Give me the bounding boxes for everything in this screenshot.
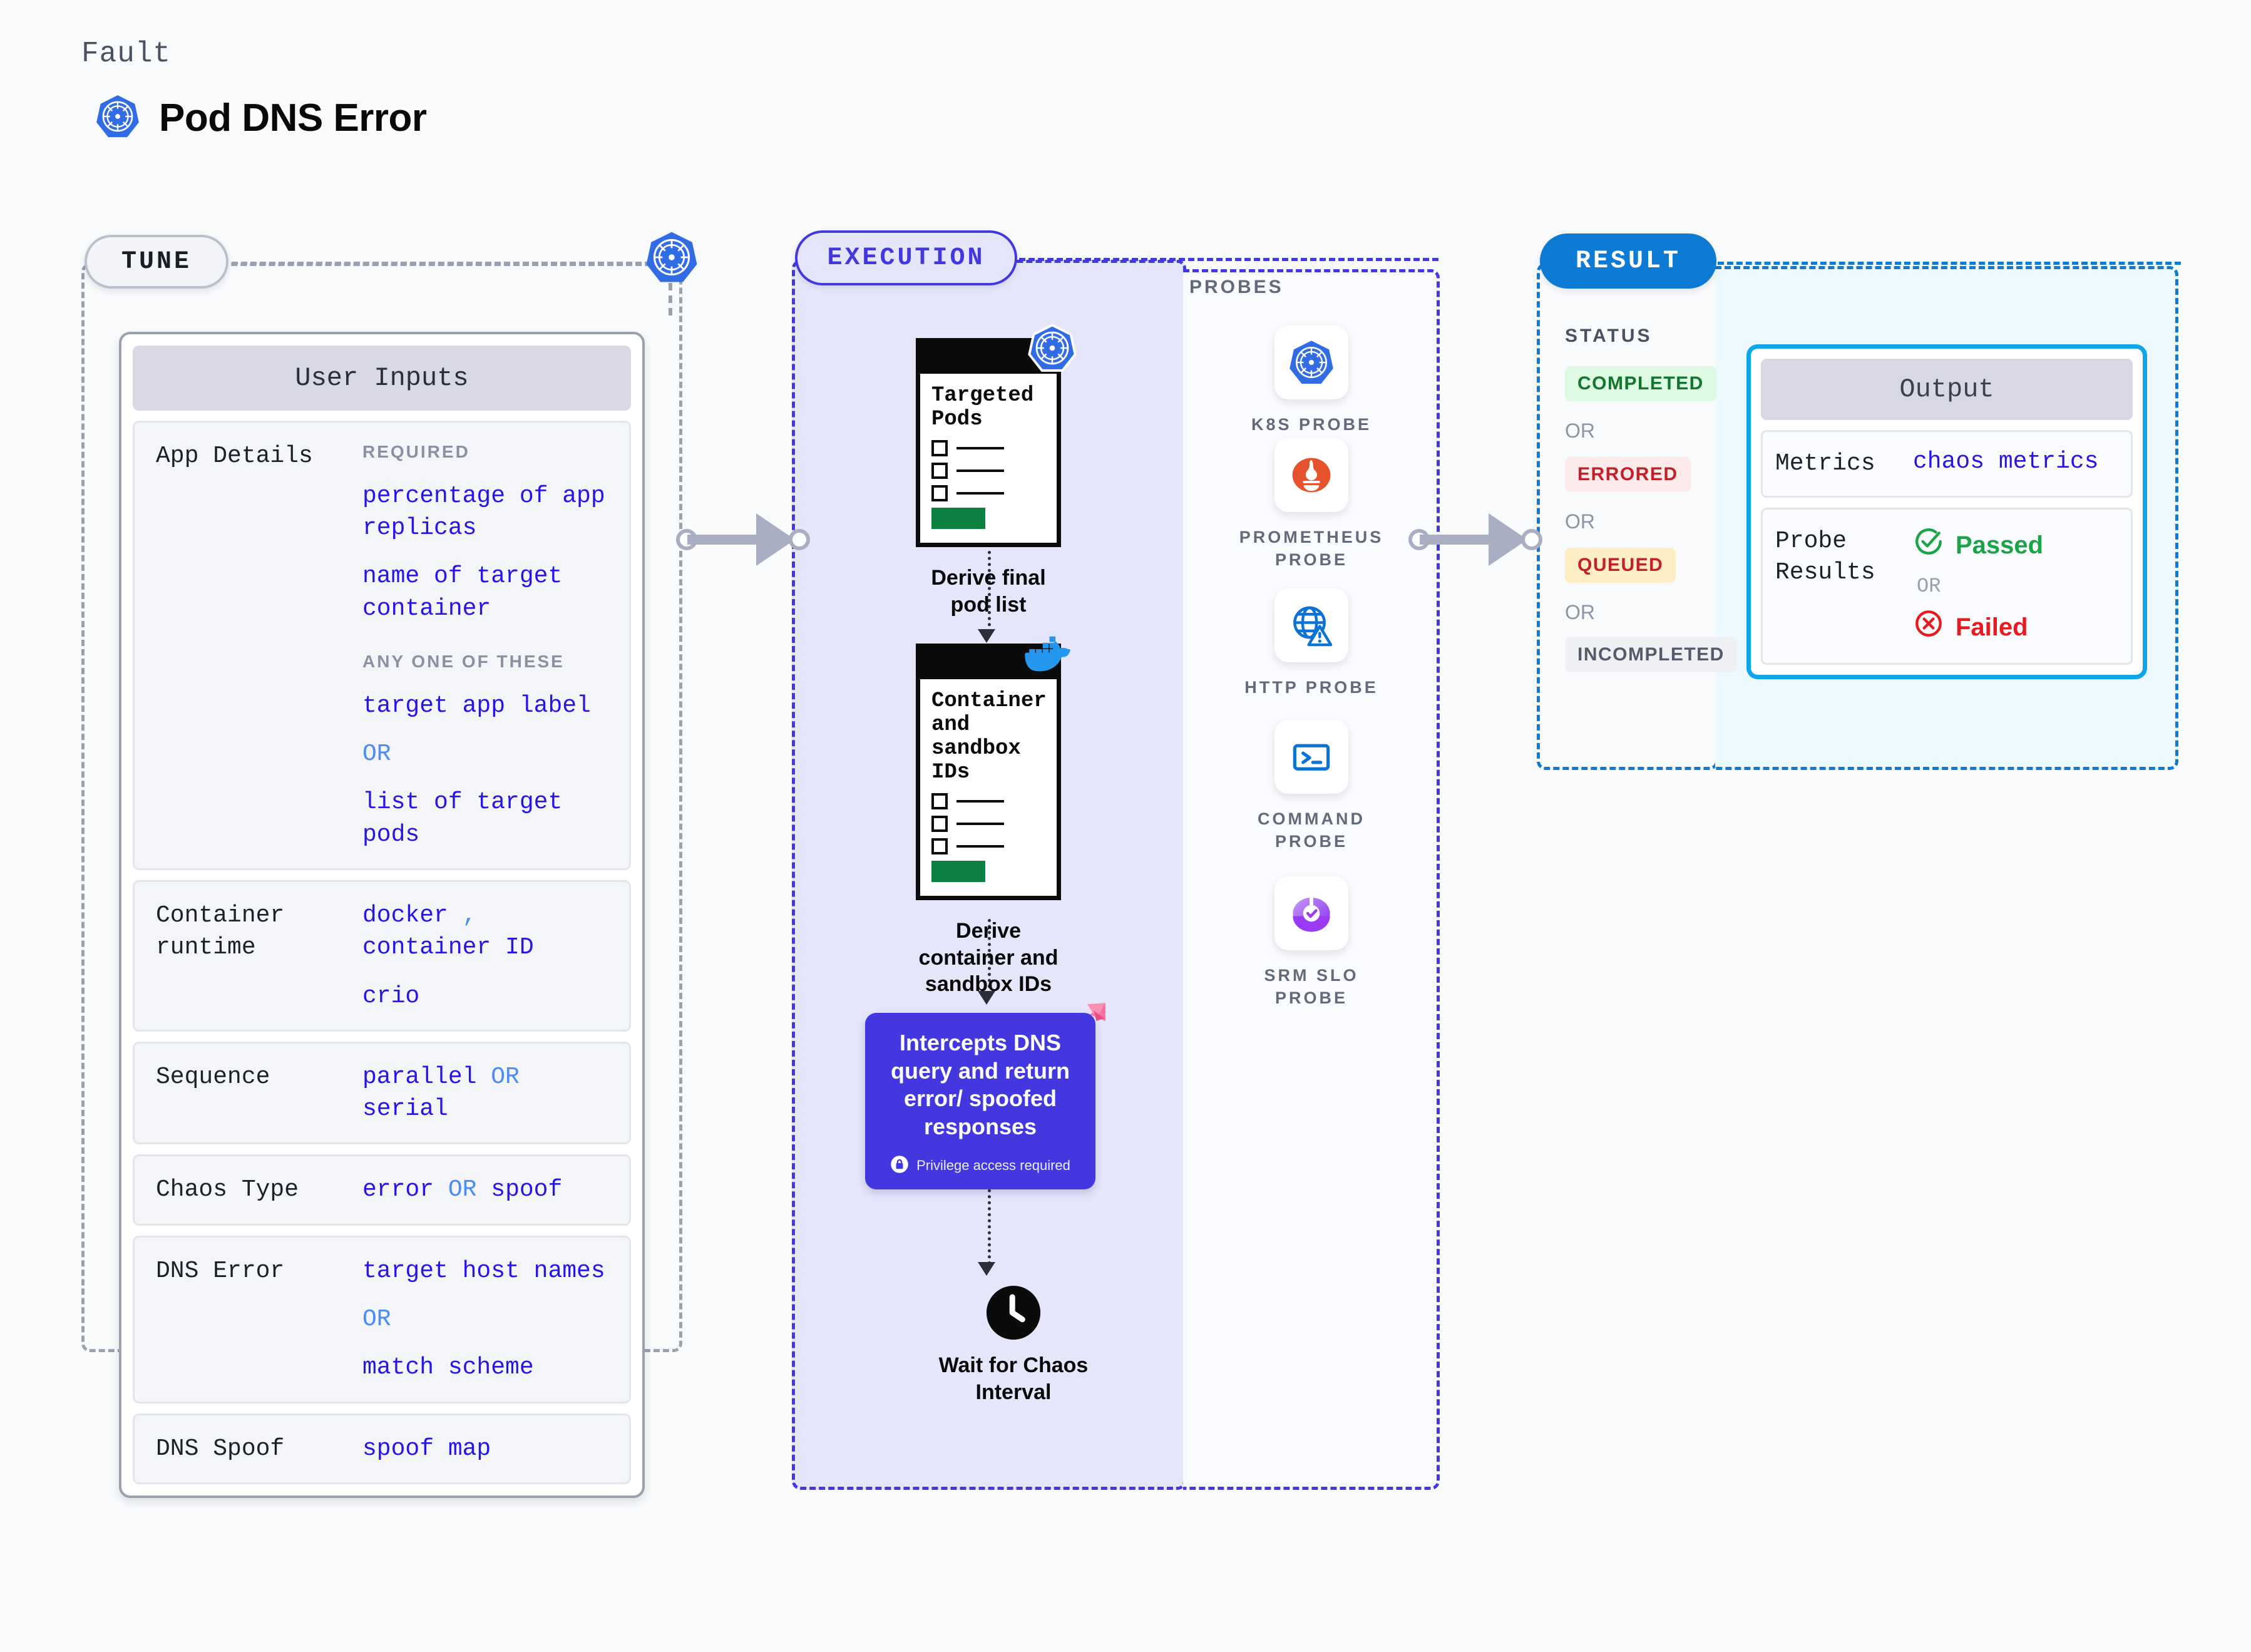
- probe-result-passed: Passed: [1913, 526, 2118, 565]
- tune-pill[interactable]: TUNE: [85, 235, 228, 289]
- failed-label: Failed: [1956, 613, 2028, 642]
- connector-execution-to-result: [1408, 513, 1596, 576]
- status-badge-completed: COMPLETED: [1565, 366, 1716, 401]
- container-sandbox-title: Container and sandbox IDs: [931, 689, 1045, 784]
- privilege-note: Privilege access required: [916, 1157, 1070, 1174]
- or-separator: OR: [448, 1176, 477, 1203]
- or-separator: OR: [362, 738, 614, 770]
- targeted-pods-title: Targeted Pods: [931, 384, 1045, 431]
- step-caption: Wait for Chaos Interval: [935, 1352, 1092, 1405]
- globe-warning-icon: [1274, 588, 1348, 662]
- kubernetes-icon: [1028, 324, 1077, 372]
- metrics-value: chaos metrics: [1913, 448, 2118, 480]
- probe-k8s[interactable]: K8S PROBE: [1230, 326, 1393, 436]
- output-row-probe-results[interactable]: Probe Results Passed OR: [1761, 508, 2133, 665]
- execution-step-container-ids: Container and sandbox IDs Derive contain…: [916, 644, 1061, 998]
- value-match-scheme: match scheme: [362, 1352, 614, 1383]
- check-circle-icon: [1913, 526, 1944, 565]
- value-target-app-label: target app label: [362, 690, 614, 722]
- value-parallel: parallel: [362, 1064, 476, 1090]
- or-separator: OR: [362, 1303, 614, 1335]
- fault-kicker: Fault: [81, 38, 427, 70]
- row-key: App Details: [150, 440, 362, 851]
- execution-pill[interactable]: EXECUTION: [795, 230, 1017, 285]
- value-spoof: spoof: [491, 1176, 562, 1203]
- user-inputs-title: User Inputs: [133, 346, 631, 411]
- value-target-container: name of target container: [362, 560, 614, 625]
- kubernetes-icon: [1274, 326, 1348, 399]
- probes-label: PROBES: [1189, 277, 1284, 298]
- user-input-row-app-details[interactable]: App Details REQUIRED percentage of app r…: [133, 421, 631, 870]
- probe-prometheus[interactable]: PROMETHEUS PROBE: [1230, 438, 1393, 572]
- result-connector-line: [1718, 262, 2181, 265]
- or-separator: OR: [491, 1064, 520, 1090]
- chaos-action-box: Intercepts DNS query and return error/ s…: [865, 1013, 1095, 1189]
- row-key: DNS Error: [150, 1255, 362, 1384]
- kubernetes-icon: [645, 230, 699, 284]
- row-key: Metrics: [1775, 448, 1913, 480]
- status-badge-errored: ERRORED: [1565, 457, 1691, 492]
- output-row-metrics[interactable]: Metrics chaos metrics: [1761, 430, 2133, 498]
- probe-label: PROMETHEUS PROBE: [1230, 526, 1393, 572]
- output-card: Output Metrics chaos metrics Probe Resul…: [1746, 344, 2147, 679]
- probe-label: K8S PROBE: [1251, 413, 1372, 436]
- container-sandbox-card: Container and sandbox IDs: [916, 644, 1061, 900]
- user-input-row-sequence[interactable]: Sequence parallel OR serial: [133, 1042, 631, 1145]
- terminal-icon: [1274, 720, 1348, 794]
- row-key: DNS Spoof: [150, 1433, 362, 1465]
- page-header: Fault Pod DNS Error: [81, 38, 427, 142]
- page-title: Pod DNS Error: [159, 96, 427, 140]
- probe-label: SRM SLO PROBE: [1230, 964, 1393, 1010]
- status-badge-incompleted: INCOMPLETED: [1565, 637, 1737, 672]
- probe-http[interactable]: HTTP PROBE: [1230, 588, 1393, 699]
- user-input-row-chaos-type[interactable]: Chaos Type error OR spoof: [133, 1154, 631, 1225]
- value-container-id: container ID: [362, 934, 534, 961]
- row-key: Sequence: [150, 1061, 362, 1126]
- required-label: REQUIRED: [362, 440, 614, 464]
- anyone-label: ANY ONE OF THESE: [362, 650, 614, 674]
- progress-bar: [931, 861, 985, 882]
- execution-step-targeted-pods: Targeted Pods: [916, 338, 1061, 618]
- probe-command[interactable]: COMMAND PROBE: [1230, 720, 1393, 853]
- user-inputs-card: User Inputs App Details REQUIRED percent…: [119, 332, 645, 1498]
- status-or: OR: [1565, 419, 1595, 443]
- row-key: Container runtime: [150, 900, 362, 1012]
- srm-slo-icon: [1274, 876, 1348, 950]
- result-pill[interactable]: RESULT: [1540, 233, 1716, 289]
- execution-connector-line: [1019, 258, 1438, 261]
- value-percentage-replicas: percentage of app replicas: [362, 480, 614, 545]
- k8s-badge-stem: [669, 283, 672, 316]
- flow-arrow-1: [978, 629, 995, 643]
- tune-connector-line: [232, 262, 670, 265]
- probe-result-failed: Failed: [1913, 608, 2118, 647]
- value-target-host-names: target host names: [362, 1255, 614, 1287]
- checklist: [931, 440, 1045, 501]
- value-list-target-pods: list of target pods: [362, 786, 614, 851]
- docker-icon: [1024, 633, 1073, 682]
- step-caption: Derive container and sandbox IDs: [916, 918, 1061, 998]
- user-input-row-container-runtime[interactable]: Container runtime docker , container ID …: [133, 880, 631, 1032]
- probe-label: COMMAND PROBE: [1230, 808, 1393, 853]
- value-spoof-map: spoof map: [362, 1435, 491, 1462]
- connector-tune-to-execution: [676, 513, 864, 576]
- progress-bar: [931, 508, 985, 529]
- value-crio: crio: [362, 980, 614, 1012]
- kubernetes-icon: [95, 94, 140, 142]
- targeted-pods-card: Targeted Pods: [916, 338, 1061, 547]
- passed-label: Passed: [1956, 531, 2043, 560]
- user-input-row-dns-spoof[interactable]: DNS Spoof spoof map: [133, 1413, 631, 1484]
- lock-icon: [890, 1155, 909, 1177]
- probe-srm-slo[interactable]: SRM SLO PROBE: [1230, 876, 1393, 1010]
- flow-arrow-3: [978, 1262, 995, 1276]
- probe-label: HTTP PROBE: [1244, 676, 1378, 699]
- result-or: OR: [1917, 575, 2118, 598]
- output-title: Output: [1761, 359, 2133, 420]
- fault-title-row: Pod DNS Error: [95, 94, 427, 142]
- row-key: Chaos Type: [150, 1174, 362, 1206]
- clock-icon: [987, 1286, 1040, 1340]
- status-label: STATUS: [1565, 326, 1653, 347]
- value-error: error: [362, 1176, 434, 1203]
- step-caption: Derive final pod list: [916, 565, 1061, 618]
- chaos-icon: [1068, 1002, 1107, 1040]
- prometheus-icon: [1274, 438, 1348, 512]
- chaos-action-text: Intercepts DNS query and return error/ s…: [879, 1029, 1082, 1141]
- x-circle-icon: [1913, 608, 1944, 647]
- execution-step-wait: Wait for Chaos Interval: [935, 1286, 1092, 1405]
- checklist: [931, 793, 1045, 854]
- flow-connector-3: [988, 1183, 991, 1265]
- status-or: OR: [1565, 601, 1595, 624]
- value-docker: docker: [362, 902, 448, 929]
- value-serial: serial: [362, 1095, 448, 1122]
- user-input-row-dns-error[interactable]: DNS Error target host names OR match sch…: [133, 1236, 631, 1403]
- value-separator: ,: [463, 902, 477, 929]
- row-key: Probe Results: [1775, 526, 1913, 647]
